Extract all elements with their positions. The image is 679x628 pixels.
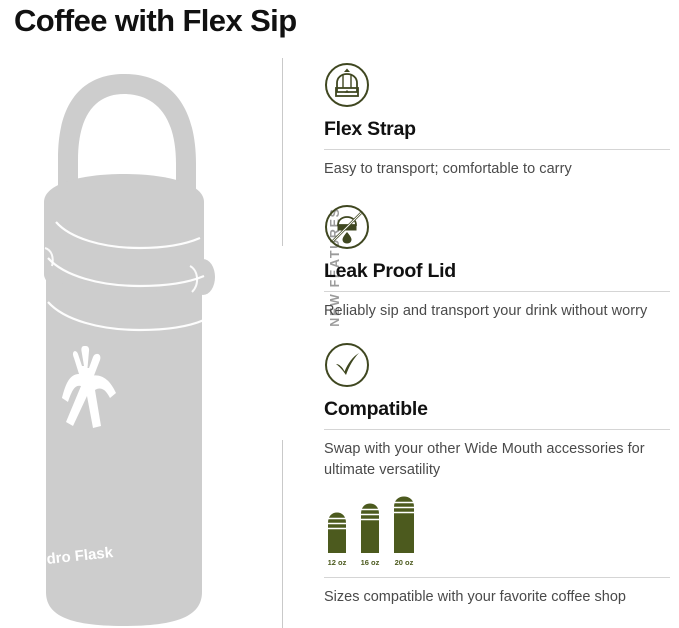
size-label: 20 oz bbox=[395, 558, 414, 567]
checkmark-circle-icon bbox=[324, 342, 370, 388]
feature-flex-strap: Flex Strap Easy to transport; comfortabl… bbox=[324, 62, 670, 180]
feature-title: Compatible bbox=[324, 396, 670, 422]
page-title: Coffee with Flex Sip bbox=[14, 0, 297, 44]
sizes-block: 12 oz 16 oz 20 oz Sizes compatible with … bbox=[324, 495, 670, 608]
size-bottle-16oz: 16 oz bbox=[361, 504, 380, 568]
size-bottle-12oz: 12 oz bbox=[328, 513, 347, 568]
feature-description: Reliably sip and transport your drink wi… bbox=[324, 301, 670, 322]
feature-rule bbox=[324, 291, 670, 292]
feature-rule bbox=[324, 149, 670, 150]
product-image: Hydro Flask bbox=[0, 52, 258, 628]
feature-rule bbox=[324, 429, 670, 430]
feature-title: Leak Proof Lid bbox=[324, 258, 670, 284]
sizes-rule bbox=[324, 577, 670, 578]
size-bottle-20oz: 20 oz bbox=[394, 497, 414, 568]
divider-line-bottom bbox=[282, 440, 283, 628]
feature-compatible: Compatible Swap with your other Wide Mou… bbox=[324, 342, 670, 481]
section-divider: NEW FEATURES bbox=[282, 58, 284, 628]
bottle-illustration: Hydro Flask bbox=[0, 52, 258, 628]
features-list: Flex Strap Easy to transport; comfortabl… bbox=[324, 62, 670, 608]
bottle-body-shape bbox=[46, 266, 202, 626]
sizes-description: Sizes compatible with your favorite coff… bbox=[324, 587, 670, 608]
feature-description: Easy to transport; comfortable to carry bbox=[324, 159, 670, 180]
size-label: 12 oz bbox=[328, 558, 347, 567]
feature-title: Flex Strap bbox=[324, 116, 670, 142]
flex-strap-icon bbox=[324, 62, 370, 108]
bottle-cap-shape bbox=[44, 174, 204, 298]
feature-leak-proof-lid: Leak Proof Lid Reliably sip and transpor… bbox=[324, 204, 670, 322]
size-label: 16 oz bbox=[361, 558, 380, 567]
feature-description: Swap with your other Wide Mouth accessor… bbox=[324, 439, 670, 481]
divider-line-top bbox=[282, 58, 283, 246]
bottle-sizes-graphic: 12 oz 16 oz 20 oz bbox=[324, 495, 442, 569]
leak-proof-no-drip-icon bbox=[324, 204, 370, 250]
